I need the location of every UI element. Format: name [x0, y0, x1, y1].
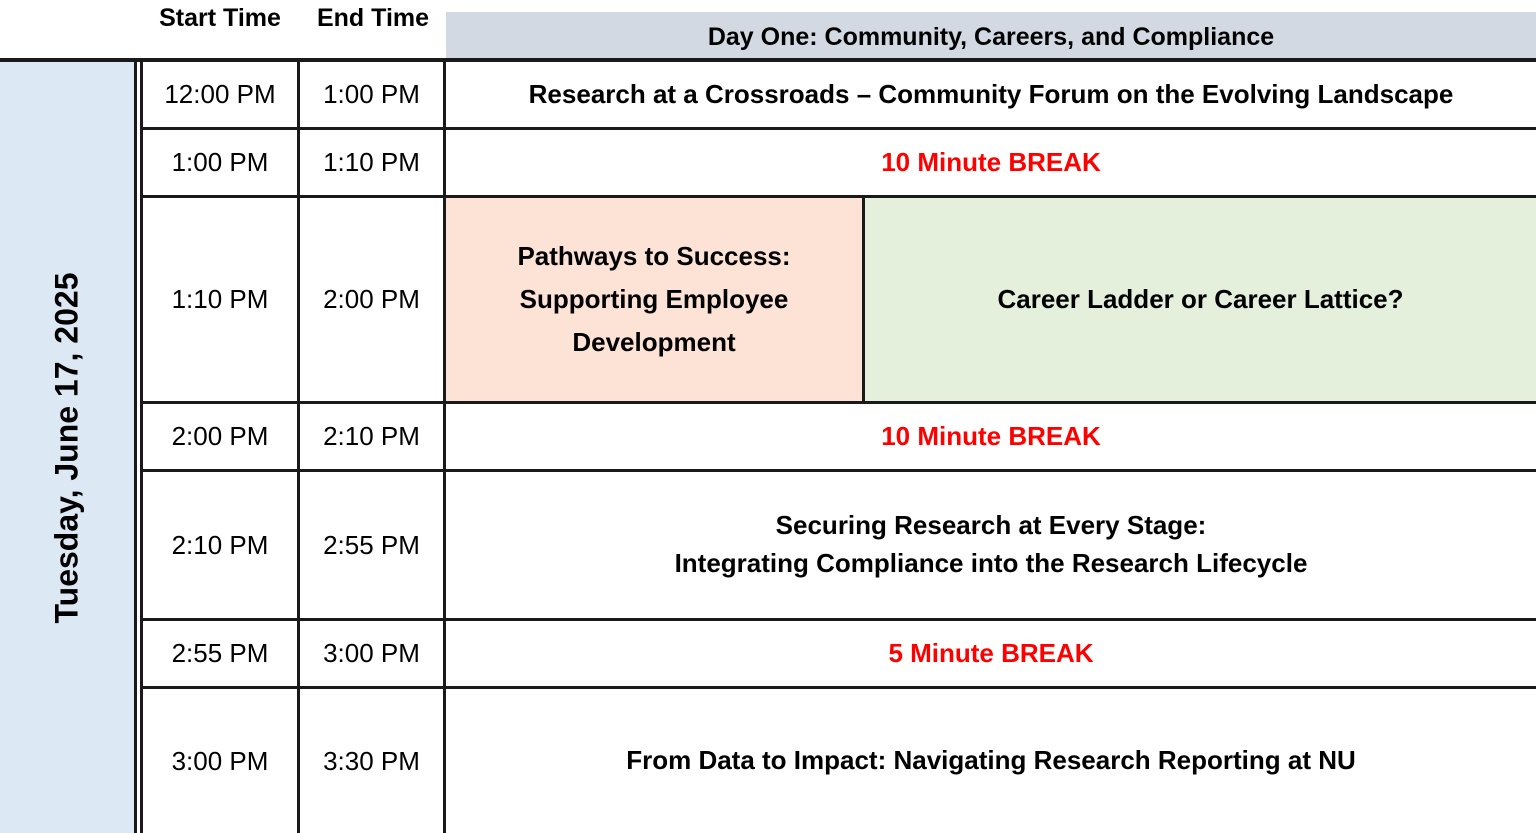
- cell-break-label: 5 Minute BREAK: [446, 621, 1536, 686]
- date-column-label: Tuesday, June 17, 2025: [49, 272, 86, 623]
- cell-break-label: 10 Minute BREAK: [446, 130, 1536, 195]
- cell-end-time: 1:00 PM: [300, 62, 446, 127]
- cell-end-time: 2:00 PM: [300, 198, 446, 401]
- session-line-1: Securing Research at Every Stage:: [675, 507, 1308, 545]
- cell-end-time: 2:10 PM: [300, 404, 446, 469]
- cell-start-time: 1:10 PM: [140, 198, 300, 401]
- cell-end-time: 1:10 PM: [300, 130, 446, 195]
- session-line-2: Integrating Compliance into the Research…: [675, 545, 1308, 583]
- table-row: 12:00 PM 1:00 PM Research at a Crossroad…: [140, 62, 1536, 130]
- cell-session-title-track-a: Pathways to Success: Supporting Employee…: [446, 198, 865, 401]
- cell-session-title: Securing Research at Every Stage: Integr…: [446, 472, 1536, 618]
- table-row: 2:10 PM 2:55 PM Securing Research at Eve…: [140, 472, 1536, 621]
- cell-session-title: From Data to Impact: Navigating Research…: [446, 689, 1536, 833]
- cell-start-time: 12:00 PM: [140, 62, 300, 127]
- column-header-end-time: End Time: [300, 2, 446, 34]
- cell-end-time: 2:55 PM: [300, 472, 446, 618]
- table-row: 2:55 PM 3:00 PM 5 Minute BREAK: [140, 621, 1536, 689]
- table-row: 1:10 PM 2:00 PM Pathways to Success: Sup…: [140, 198, 1536, 404]
- cell-session-title: Research at a Crossroads – Community For…: [446, 62, 1536, 127]
- cell-start-time: 3:00 PM: [140, 689, 300, 833]
- table-header-row: Start Time End Time Day One: Community, …: [0, 0, 1536, 58]
- cell-start-time: 2:55 PM: [140, 621, 300, 686]
- table-row: 3:00 PM 3:30 PM From Data to Impact: Nav…: [140, 689, 1536, 833]
- table-row: 1:00 PM 1:10 PM 10 Minute BREAK: [140, 130, 1536, 198]
- table-row: 2:00 PM 2:10 PM 10 Minute BREAK: [140, 404, 1536, 472]
- schedule-grid: 12:00 PM 1:00 PM Research at a Crossroad…: [140, 62, 1536, 833]
- column-header-day-one: Day One: Community, Careers, and Complia…: [446, 22, 1536, 52]
- cell-start-time: 1:00 PM: [140, 130, 300, 195]
- cell-start-time: 2:10 PM: [140, 472, 300, 618]
- cell-end-time: 3:00 PM: [300, 621, 446, 686]
- column-header-start-time: Start Time: [140, 2, 300, 34]
- date-column: Tuesday, June 17, 2025: [0, 62, 137, 833]
- cell-end-time: 3:30 PM: [300, 689, 446, 833]
- cell-start-time: 2:00 PM: [140, 404, 300, 469]
- session-line-3: Development: [517, 321, 790, 364]
- session-line-2: Supporting Employee: [517, 278, 790, 321]
- session-line-1: Pathways to Success:: [517, 235, 790, 278]
- cell-session-title-track-b: Career Ladder or Career Lattice?: [865, 198, 1536, 401]
- table-body: Tuesday, June 17, 2025 12:00 PM 1:00 PM …: [0, 58, 1536, 833]
- cell-break-label: 10 Minute BREAK: [446, 404, 1536, 469]
- schedule-table: Start Time End Time Day One: Community, …: [0, 0, 1536, 829]
